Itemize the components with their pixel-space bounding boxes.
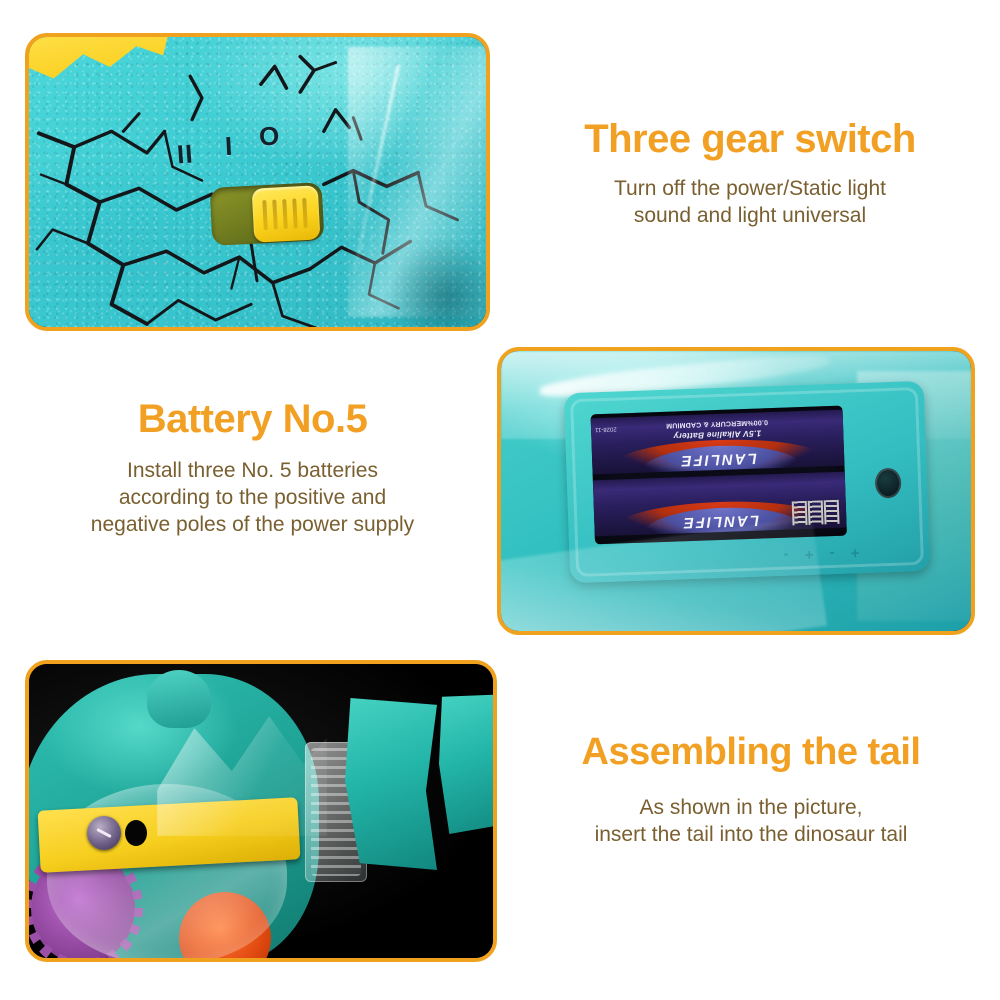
feature-subtext-line: negative poles of the power supply <box>20 512 485 539</box>
battery-cell: 2028-11 0.00%MERCURY & CADMIUM 1.5V Alka… <box>591 410 845 475</box>
bracket-screw-hole <box>125 820 147 846</box>
feature-subtext-line: sound and light universal <box>515 203 985 230</box>
feature-text-three-gear-switch: Three gear switch Turn off the power/Sta… <box>515 118 985 230</box>
feature-subtext-line: As shown in the picture, <box>512 795 990 822</box>
battery-date: 2028-11 <box>595 426 617 433</box>
photo-tail-assembly <box>29 664 493 958</box>
feature-headline: Three gear switch <box>515 118 985 160</box>
switch-mark-one: I <box>224 131 233 162</box>
photo-panel-three-gear-switch: II I O <box>25 33 490 331</box>
feature-headline: Assembling the tail <box>512 733 990 773</box>
switch-track <box>210 182 325 246</box>
feature-subtext: As shown in the picture, insert the tail… <box>512 795 990 849</box>
switch-mark-off: O <box>258 120 280 152</box>
dinosaur-back-bump <box>147 670 211 728</box>
feature-subtext: Install three No. 5 batteries according … <box>20 458 485 539</box>
feature-headline: Battery No.5 <box>20 398 485 440</box>
switch-slider-knob <box>252 185 321 242</box>
feature-subtext-line: according to the positive and <box>20 485 485 512</box>
feature-subtext-line: Turn off the power/Static light <box>515 176 985 203</box>
photo-panel-assembling-the-tail <box>25 660 497 962</box>
battery-brand: LANLIFE <box>679 450 757 470</box>
feature-subtext: Turn off the power/Static light sound an… <box>515 176 985 230</box>
photo-switch-closeup: II I O <box>29 37 486 327</box>
feature-text-battery-no-5: Battery No.5 Install three No. 5 batteri… <box>20 398 485 539</box>
photo-battery-compartment: 2028-11 0.00%MERCURY & CADMIUM 1.5V Alka… <box>501 351 971 631</box>
switch-position-markings: II I O <box>171 129 351 169</box>
switch-mark-two: II <box>176 138 195 170</box>
bracket-screw <box>87 816 121 850</box>
feature-text-assembling-the-tail: Assembling the tail As shown in the pict… <box>512 733 990 849</box>
photo-panel-battery-no-5: 2028-11 0.00%MERCURY & CADMIUM 1.5V Alka… <box>497 347 975 635</box>
feature-subtext-line: insert the tail into the dinosaur tail <box>512 822 990 849</box>
battery-spec-mercury: 0.00%MERCURY & CADMIUM <box>666 418 768 429</box>
feature-subtext-line: Install three No. 5 batteries <box>20 458 485 485</box>
tail-segment <box>345 698 437 870</box>
tail-segment <box>439 694 493 834</box>
